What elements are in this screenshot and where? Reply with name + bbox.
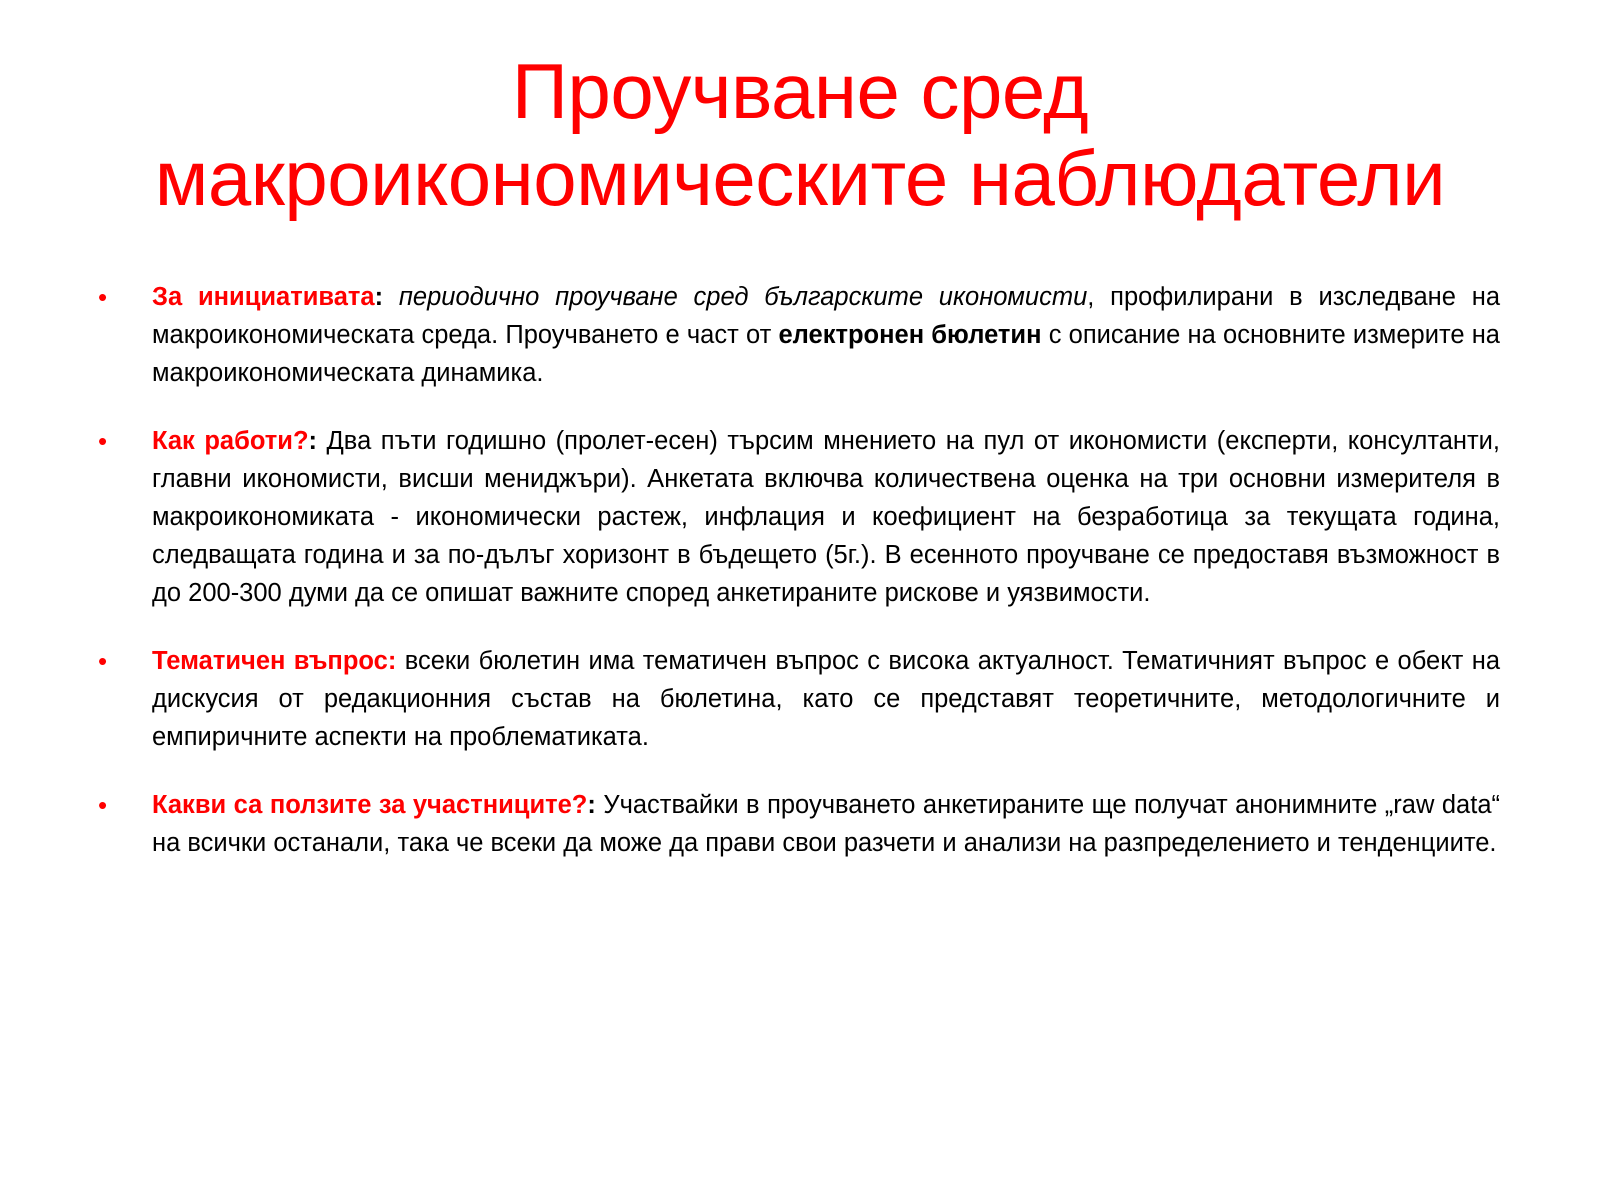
bullet-lead-4: Какви са ползите за участниците? [152,791,587,819]
bullet-italic-1: периодично проучване сред българските ик… [383,283,1087,311]
bullet-item-1: • За инициативата: периодично проучване … [90,278,1500,392]
bullet-marker-icon: • [90,642,152,680]
bullet-lead-2: Как работи? [152,427,309,455]
bullet-item-4: • Какви са ползите за участниците?: Учас… [90,786,1500,862]
bullet-item-2: • Как работи?: Два пъти годишно (пролет-… [90,422,1500,612]
slide-title: Проучване сред макроикономическите наблю… [90,48,1510,223]
bullet-marker-icon: • [90,422,152,460]
bullet-marker-icon: • [90,786,152,824]
slide-body: • За инициативата: периодично проучване … [90,278,1500,862]
bullet-text-1: За инициативата: периодично проучване ср… [152,278,1500,392]
bullet-lead-separator-4: : [587,791,596,819]
bullet-lead-separator-1: : [375,283,384,311]
bullet-plain-2: Два пъти годишно (пролет-есен) търсим мн… [152,427,1500,607]
bullet-marker-icon: • [90,278,152,316]
slide-title-line-1: Проучване сред [90,48,1510,135]
bullet-text-2: Как работи?: Два пъти годишно (пролет-ес… [152,422,1500,612]
bullet-lead-separator-2: : [309,427,318,455]
bullet-lead-3: Тематичен въпрос [152,647,388,675]
bullet-bold-1: електронен бюлетин [778,321,1041,349]
slide-title-line-2: макроикономическите наблюдатели [90,135,1510,222]
bullet-text-3: Тематичен въпрос: всеки бюлетин има тема… [152,642,1500,756]
bullet-lead-1: За инициативата [152,283,375,311]
bullet-text-4: Какви са ползите за участниците?: Участв… [152,786,1500,862]
slide-canvas: Проучване сред макроикономическите наблю… [0,0,1600,1200]
bullet-item-3: • Тематичен въпрос: всеки бюлетин има те… [90,642,1500,756]
